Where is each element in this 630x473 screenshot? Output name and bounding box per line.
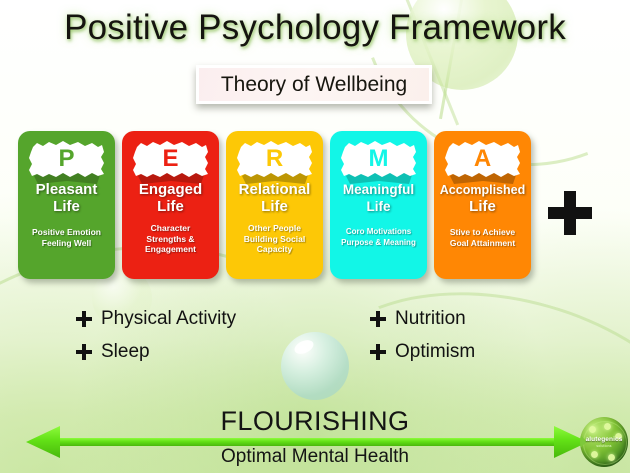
plus-vertical-bar [564, 191, 576, 235]
slide-canvas: Positive Psychology Framework Theory of … [0, 0, 630, 473]
perma-card-description: Other People Building Social Capacity [228, 223, 321, 255]
support-item-label: Optimism [395, 341, 475, 363]
page-title: Positive Psychology Framework [0, 8, 630, 48]
perma-card-title: Pleasant Life [18, 182, 115, 215]
support-item-label: Sleep [101, 341, 150, 363]
perma-card-description: Positive Emotion Feeling Well [20, 227, 113, 248]
theory-of-wellbeing-box: Theory of Wellbeing [196, 65, 432, 104]
logo-wordmark: alutegenics [580, 436, 628, 443]
torn-paper-badge-icon: P [18, 136, 115, 186]
perma-card-title: Accomplished Life [434, 182, 531, 215]
support-factors-list: Physical Activity Sleep Nutrition Optimi… [0, 300, 630, 372]
support-item-sleep: Sleep [76, 341, 150, 363]
flourishing-subheading: Optimal Mental Health [0, 446, 630, 468]
perma-letter: A [434, 144, 531, 174]
logo-dot [591, 451, 598, 458]
logo-tagline: solutions [580, 444, 628, 448]
plus-sign-icon [548, 191, 592, 235]
support-item-label: Physical Activity [101, 308, 236, 330]
perma-card-title: Engaged Life [122, 182, 219, 215]
plus-icon [370, 344, 386, 360]
perma-card-meaningful[interactable]: M Meaningful Life Coro Motivations Purpo… [330, 131, 427, 279]
perma-card-relational[interactable]: R Relational Life Other People Building … [226, 131, 323, 279]
perma-card-title: Meaningful Life [330, 182, 427, 215]
plus-icon [76, 344, 92, 360]
plus-icon [76, 311, 92, 327]
torn-paper-badge-icon: R [226, 136, 323, 186]
support-item-physical-activity: Physical Activity [76, 308, 236, 330]
torn-paper-badge-icon: E [122, 136, 219, 186]
salutegenics-logo-icon[interactable]: alutegenics solutions [580, 417, 628, 467]
support-item-label: Nutrition [395, 308, 466, 330]
perma-card-pleasant[interactable]: P Pleasant Life Positive Emotion Feeling… [18, 131, 115, 279]
perma-letter: P [18, 144, 115, 174]
perma-card-row: P Pleasant Life Positive Emotion Feeling… [18, 131, 612, 279]
perma-letter: R [226, 144, 323, 174]
support-item-nutrition: Nutrition [370, 308, 466, 330]
support-item-optimism: Optimism [370, 341, 475, 363]
perma-card-title: Relational Life [226, 182, 323, 215]
perma-card-description: Stive to Achieve Goal Attainment [436, 227, 529, 248]
perma-card-description: Coro Motivations Purpose & Meaning [332, 227, 425, 248]
perma-card-accomplished[interactable]: A Accomplished Life Stive to Achieve Goa… [434, 131, 531, 279]
logo-dot [589, 426, 596, 433]
perma-letter: E [122, 144, 219, 174]
theory-of-wellbeing-label: Theory of Wellbeing [221, 73, 407, 97]
torn-paper-badge-icon: A [434, 136, 531, 186]
perma-letter: M [330, 144, 427, 174]
plus-icon [370, 311, 386, 327]
logo-dot [604, 423, 611, 430]
torn-paper-badge-icon: M [330, 136, 427, 186]
perma-card-engaged[interactable]: E Engaged Life Character Strengths & Eng… [122, 131, 219, 279]
perma-card-description: Character Strengths & Engagement [124, 223, 217, 255]
logo-dot [608, 454, 615, 461]
